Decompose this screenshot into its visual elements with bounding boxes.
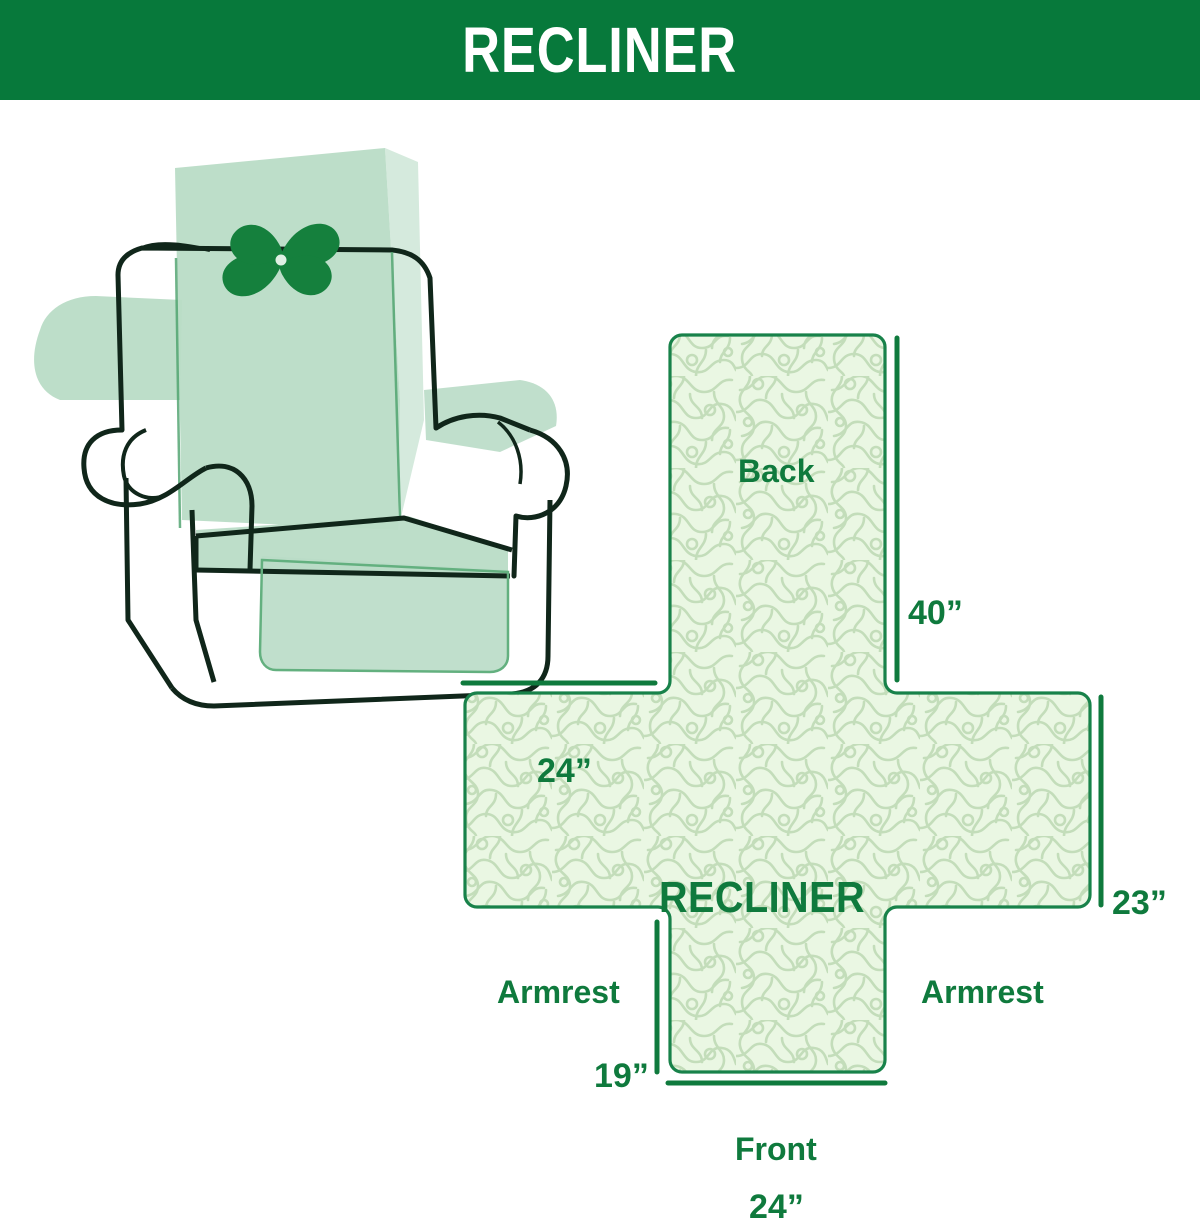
chair-illustration — [34, 148, 567, 706]
cover-arm-left — [34, 296, 182, 400]
dimension-label-armrest-width: 24” — [537, 754, 592, 788]
chair-armrest-left-roll — [123, 430, 164, 498]
illustration-layer — [0, 100, 1200, 1200]
diagram-stage: Back RECLINER Armrest Armrest Front 40” … — [0, 100, 1200, 1200]
dimension-label-back-height: 40” — [908, 596, 963, 630]
panel-label-back: Back — [738, 455, 815, 487]
dimension-label-front-height: 19” — [594, 1059, 649, 1093]
dimension-label-front-width: 24” — [749, 1190, 804, 1224]
cover-backrest — [175, 148, 400, 530]
panel-label-front: Front — [735, 1133, 817, 1165]
panel-label-armrest-left: Armrest — [497, 976, 620, 1008]
chair-base-left — [126, 478, 172, 688]
chair-armrest-right-roll — [516, 430, 567, 518]
pattern-product-label: RECLINER — [659, 876, 865, 920]
dimension-label-center-height: 23” — [1112, 886, 1167, 920]
panel-label-armrest-right: Armrest — [921, 976, 1044, 1008]
chair-armrest-right-inner — [514, 516, 516, 576]
header-banner: RECLINER — [0, 0, 1200, 100]
page-title: RECLINER — [463, 18, 738, 82]
